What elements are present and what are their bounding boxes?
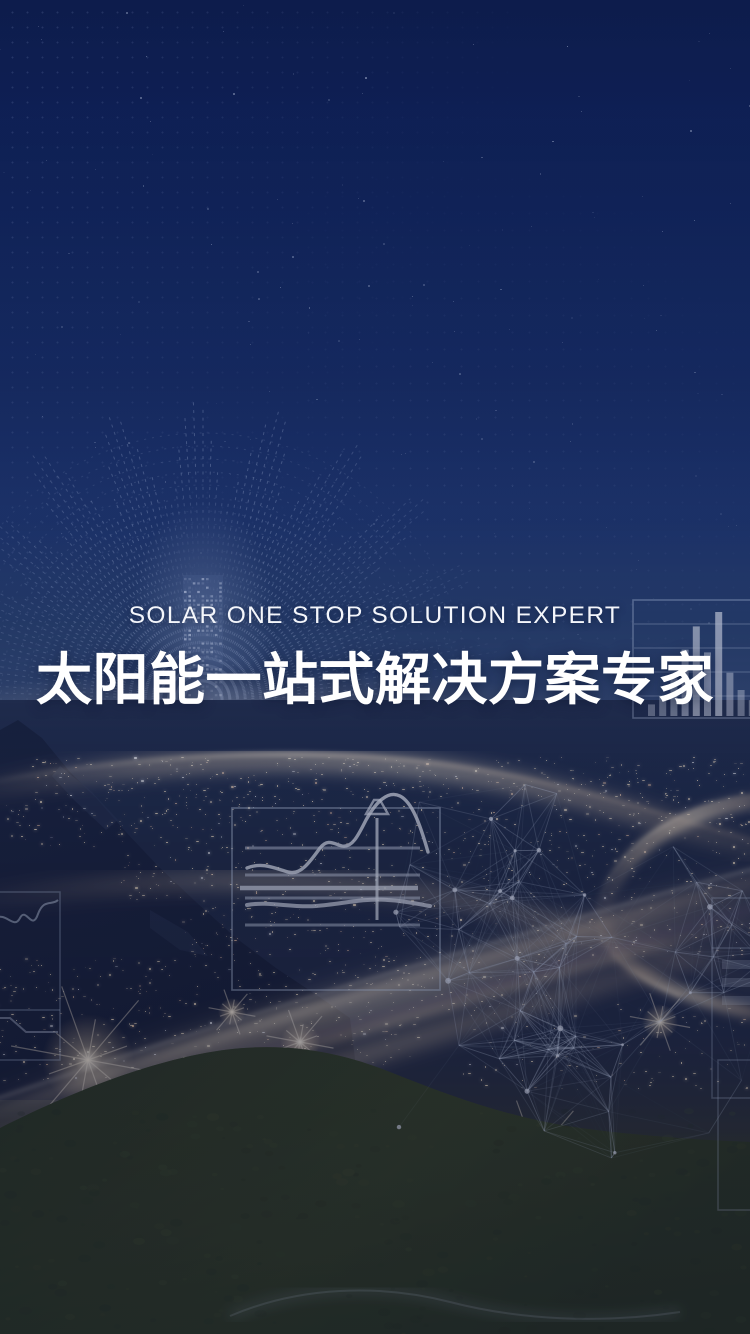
hero-subtitle: SOLAR ONE STOP SOLUTION EXPERT (0, 604, 750, 629)
hero-title: 太阳能一站式解决方案专家 (0, 651, 750, 710)
hero-text-block: SOLAR ONE STOP SOLUTION EXPERT 太阳能一站式解决方… (0, 604, 750, 710)
hero-banner: SOLAR ONE STOP SOLUTION EXPERT 太阳能一站式解决方… (0, 0, 750, 1334)
